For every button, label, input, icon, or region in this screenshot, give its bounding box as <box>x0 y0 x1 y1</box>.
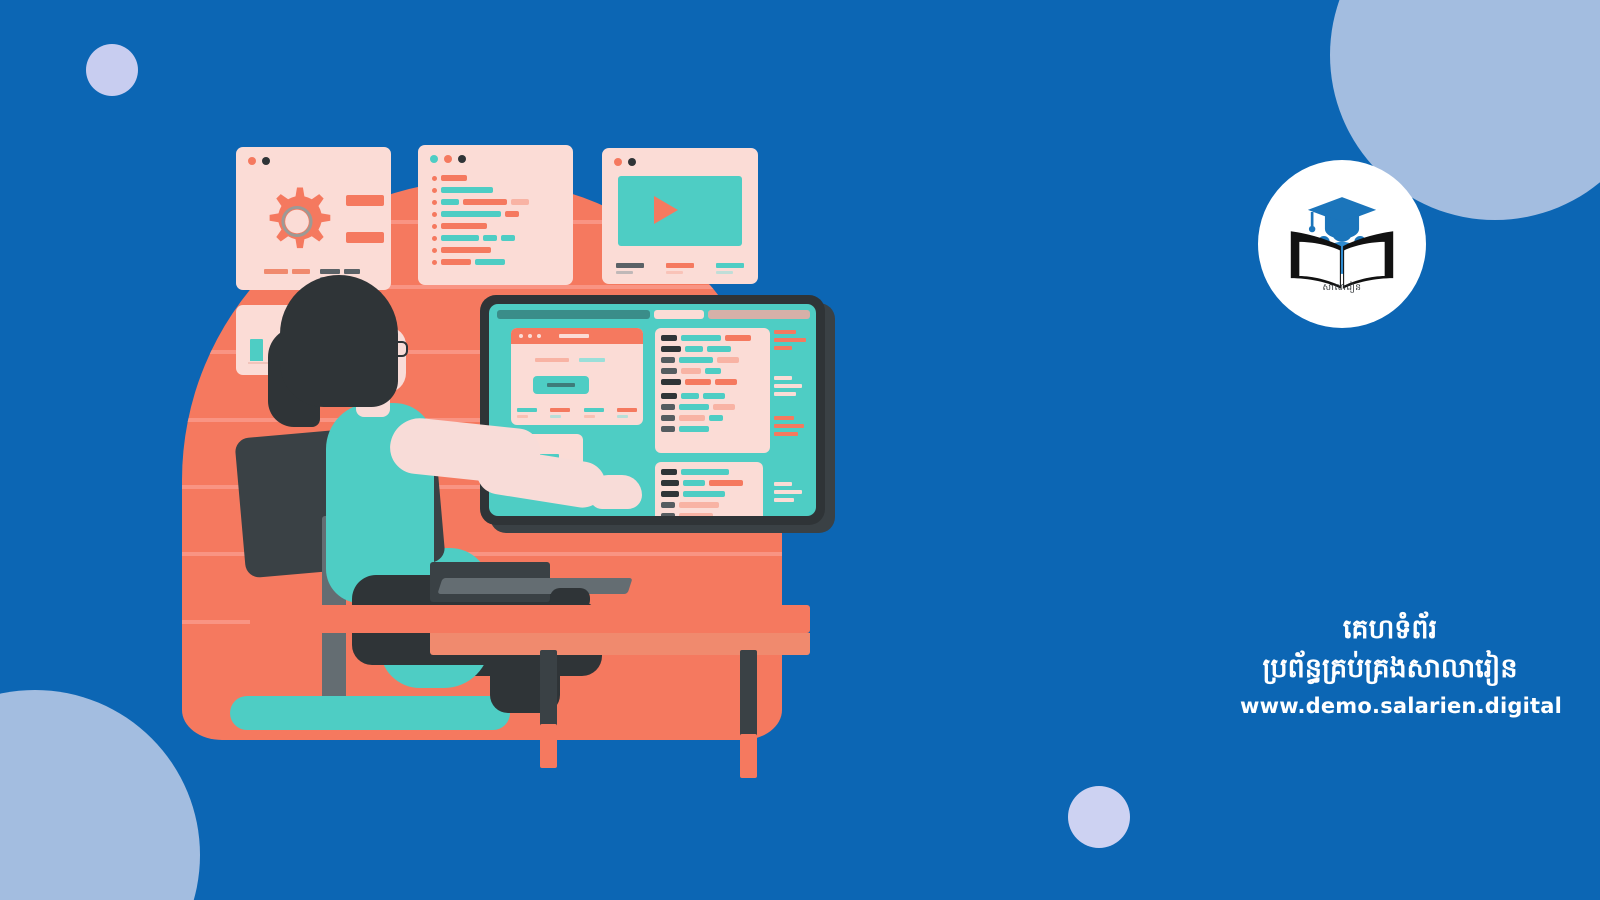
desk-foot <box>740 734 757 778</box>
person-hand <box>590 475 642 509</box>
list-item <box>661 480 757 486</box>
list-item <box>661 491 757 497</box>
secondary-list-panel <box>655 462 763 516</box>
logo-caption: សាលារៀន <box>1258 282 1426 295</box>
desk <box>250 540 820 780</box>
brand-heading-line-2: ប្រព័ន្ធគ្រប់គ្រងសាលារៀន <box>1240 649 1540 688</box>
play-icon <box>654 196 678 224</box>
screen-topbar <box>497 310 810 319</box>
list-item <box>661 415 764 421</box>
window-dot-red-icon <box>614 158 622 166</box>
window-dot-red-icon <box>444 155 452 163</box>
window-dot-teal-icon <box>430 155 438 163</box>
poster-canvas: សាលារៀន គេហទំព័រ ប្រព័ន្ធគ្រប់គ្រងសាលារៀ… <box>0 0 1600 900</box>
video-screen <box>618 176 742 246</box>
desk-leg-right <box>740 650 757 778</box>
window-dot-dark-icon <box>458 155 466 163</box>
screen-side-column-lower <box>774 416 808 440</box>
small-dot-top-left-decoration <box>86 44 138 96</box>
desk-left-edge <box>250 633 310 649</box>
form-footer-stats <box>517 408 637 418</box>
screen-side-column-bottom <box>774 482 808 506</box>
form-panel-header <box>511 328 643 344</box>
illustration-woman-at-desk <box>170 120 850 760</box>
screen-side-column-mid <box>774 376 808 400</box>
list-panel <box>655 328 770 453</box>
small-dot-bottom-right-decoration <box>1068 786 1130 848</box>
list-item <box>661 393 764 399</box>
window-dot-dark-icon <box>628 158 636 166</box>
logo <box>1258 160 1426 328</box>
desk-leg-left <box>540 650 557 768</box>
window-dots <box>248 157 270 165</box>
settings-line-2 <box>346 232 384 243</box>
brand-heading-line-1: គេហទំព័រ <box>1240 610 1540 649</box>
brand-text-block: គេហទំព័រ ប្រព័ន្ធគ្រប់គ្រងសាលារៀន www.de… <box>1240 610 1540 718</box>
window-dots <box>430 155 466 163</box>
video-footer-stats <box>616 263 744 274</box>
desk-foot <box>540 724 557 768</box>
list-item <box>661 335 764 341</box>
list-item <box>661 426 764 432</box>
list-item <box>661 379 764 385</box>
settings-line-1 <box>346 195 384 206</box>
form-panel <box>511 328 643 425</box>
person-hair <box>280 275 398 407</box>
primary-action-button[interactable] <box>533 376 589 394</box>
video-card <box>602 148 758 284</box>
window-dot-red-icon <box>248 157 256 165</box>
screen-side-column-top <box>774 330 808 354</box>
keyboard <box>437 578 632 594</box>
list-item <box>661 513 757 516</box>
settings-card <box>236 147 391 290</box>
gear-icon <box>260 183 334 257</box>
list-item <box>661 368 764 374</box>
window-dots <box>614 158 636 166</box>
brand-url[interactable]: www.demo.salarien.digital <box>1240 694 1540 718</box>
list-item <box>661 502 757 508</box>
list-item <box>661 346 764 352</box>
code-card <box>418 145 573 285</box>
list-item <box>661 357 764 363</box>
desk-top <box>250 605 810 633</box>
window-dot-dark-icon <box>262 157 270 165</box>
list-item <box>661 404 764 410</box>
list-item <box>661 469 757 475</box>
